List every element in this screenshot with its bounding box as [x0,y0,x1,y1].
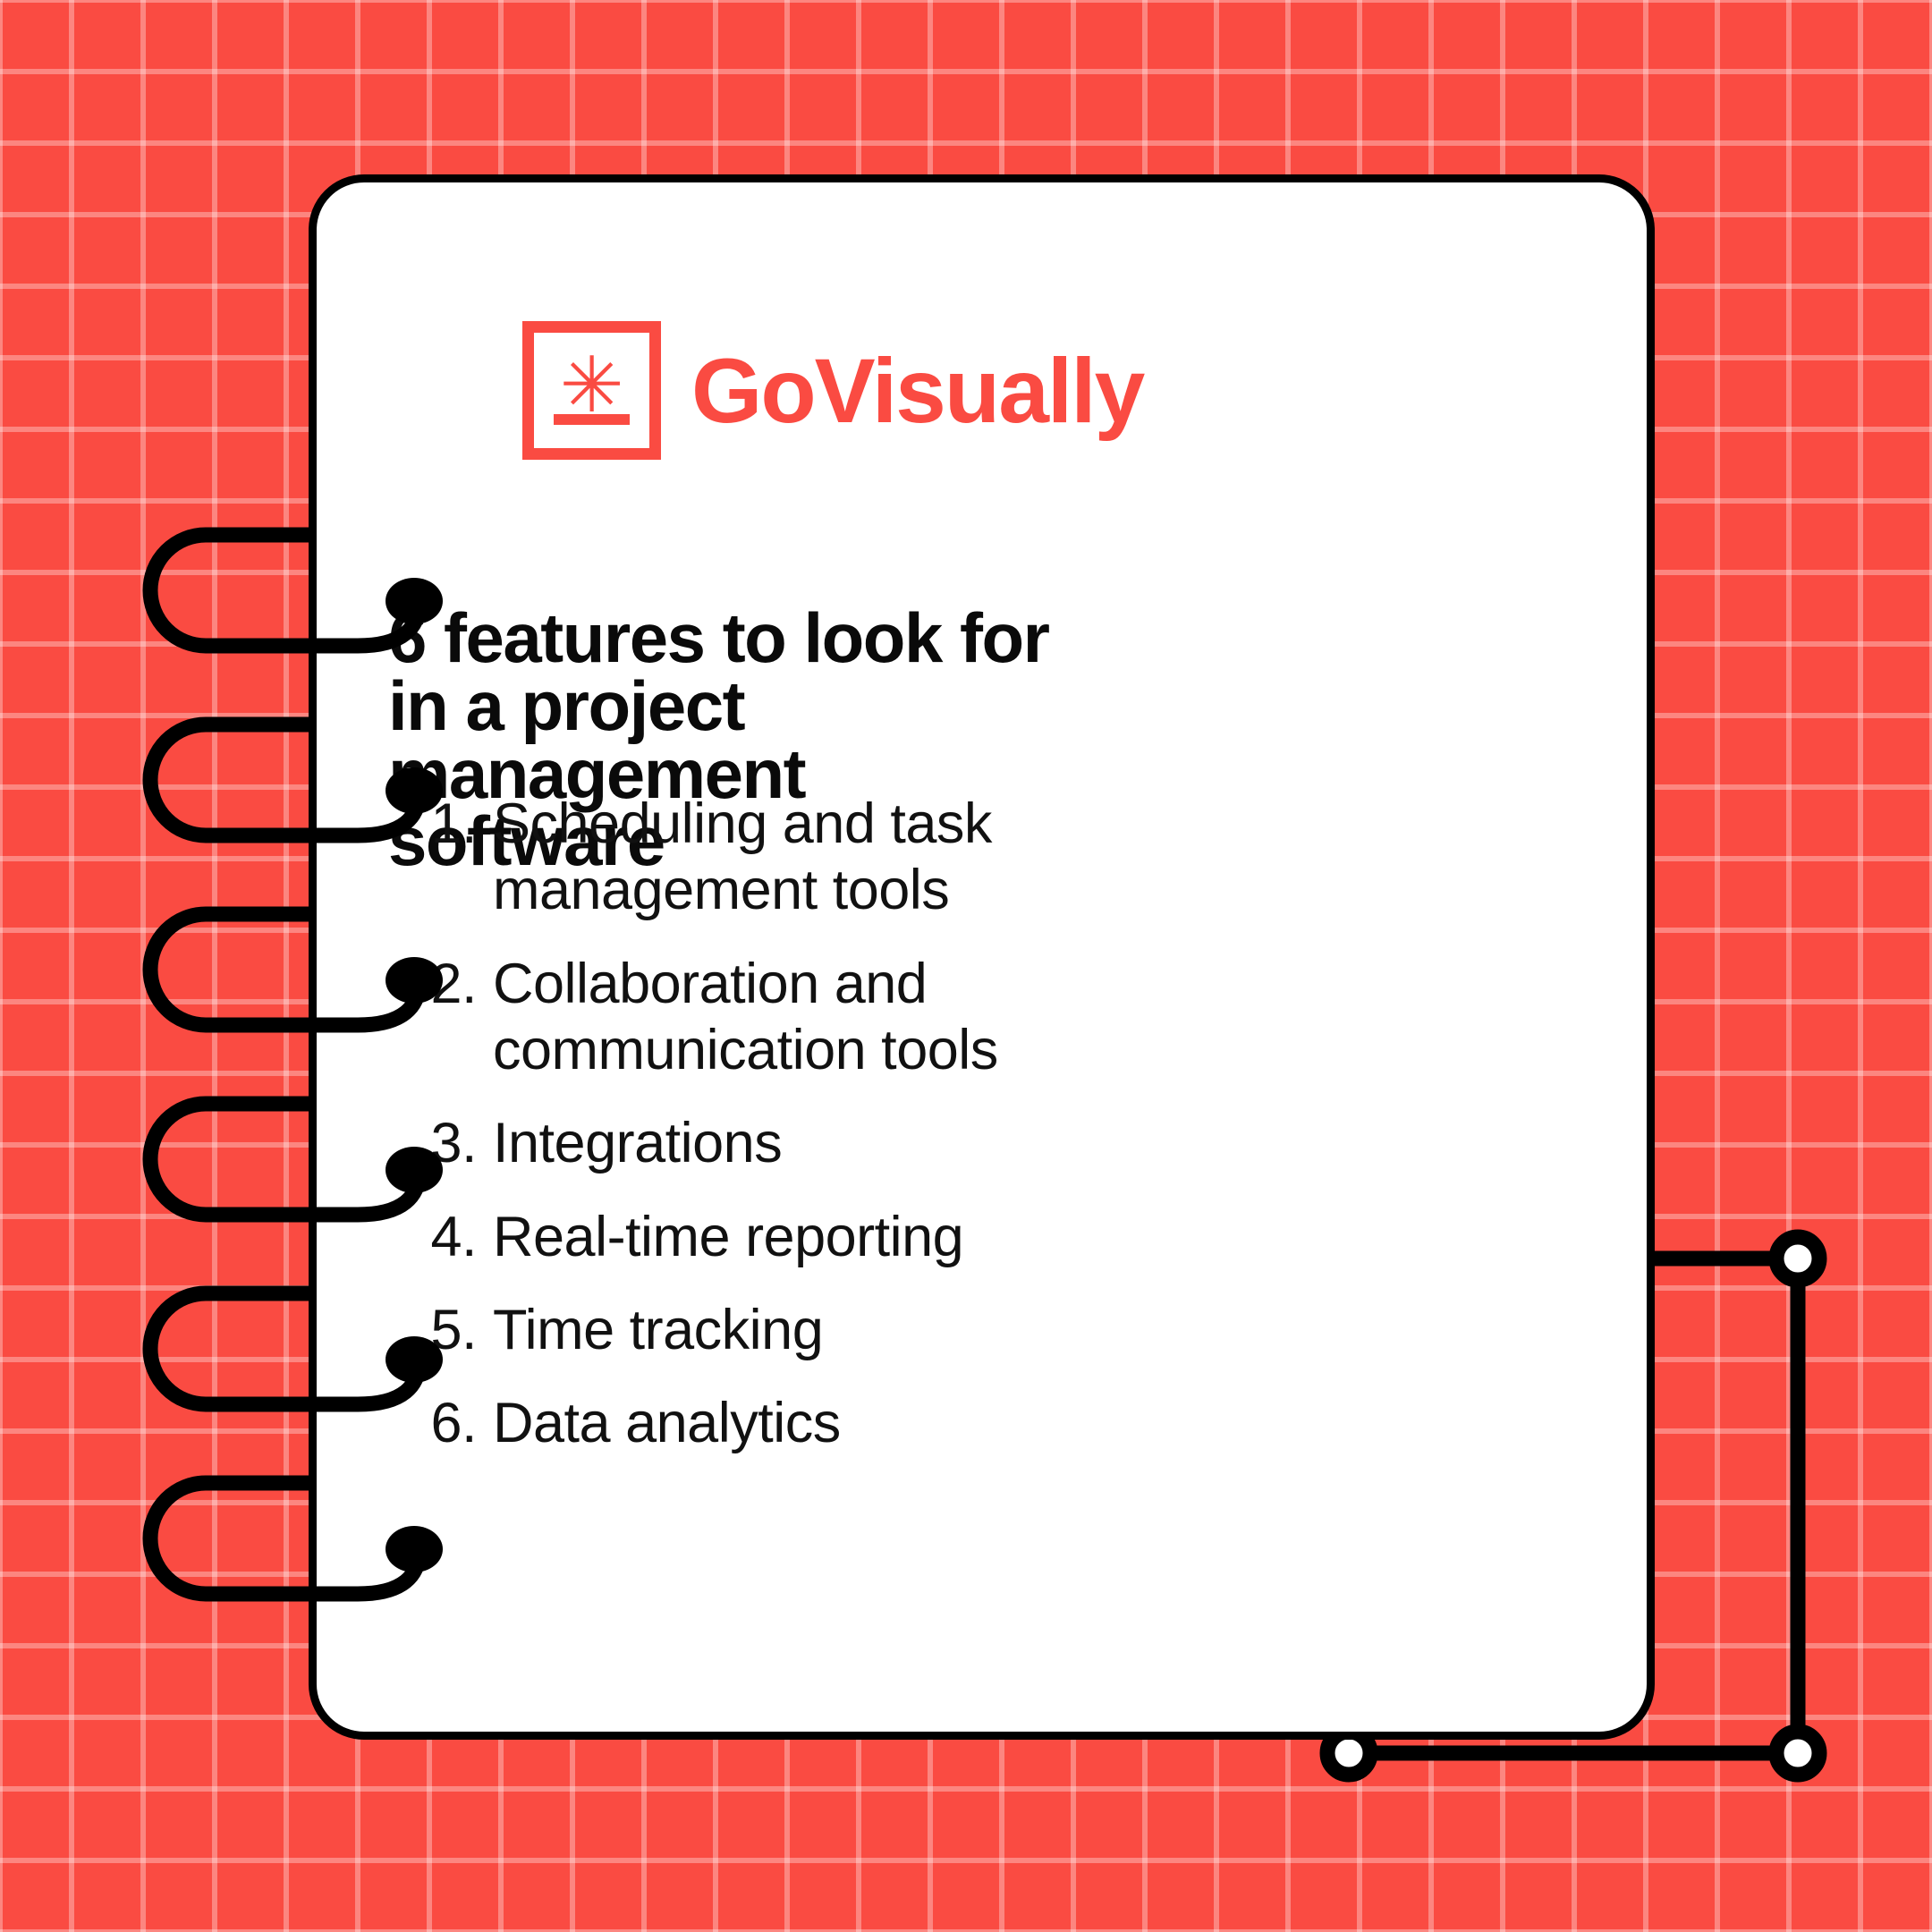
list-item-label: Collaboration and communication tools [493,951,1144,1084]
list-item-number: 1. [411,791,493,857]
brand-name: GoVisually [691,345,1143,436]
list-item-number: 5. [411,1297,493,1363]
list-item-number: 6. [411,1390,493,1456]
asterisk-document-icon: ✳ [522,321,661,460]
list-item-label: Integrations [493,1110,1144,1176]
note-card: ✳ GoVisually 6 features to look for in a… [309,174,1655,1740]
note-card-content: ✳ GoVisually 6 features to look for in a… [317,182,1647,1732]
list-item-number: 4. [411,1204,493,1270]
list-item-number: 3. [411,1110,493,1176]
list-item: 6. Data analytics [411,1390,1144,1456]
poster-canvas: ✳ GoVisually 6 features to look for in a… [0,0,1932,1932]
list-item: 3. Integrations [411,1110,1144,1176]
brand-logo[interactable]: ✳ GoVisually [522,321,1143,460]
list-item: 2. Collaboration and communication tools [411,951,1144,1084]
feature-list: 1. Scheduling and task management tools … [411,791,1144,1457]
list-item-label: Scheduling and task management tools [493,791,1144,924]
list-item: 4. Real-time reporting [411,1204,1144,1270]
list-item: 5. Time tracking [411,1297,1144,1363]
asterisk-glyph: ✳ [534,347,649,424]
list-item-number: 2. [411,951,493,1017]
list-item: 1. Scheduling and task management tools [411,791,1144,924]
list-item-label: Real-time reporting [493,1204,1144,1270]
underline-rule [554,414,630,425]
list-item-label: Data analytics [493,1390,1144,1456]
list-item-label: Time tracking [493,1297,1144,1363]
